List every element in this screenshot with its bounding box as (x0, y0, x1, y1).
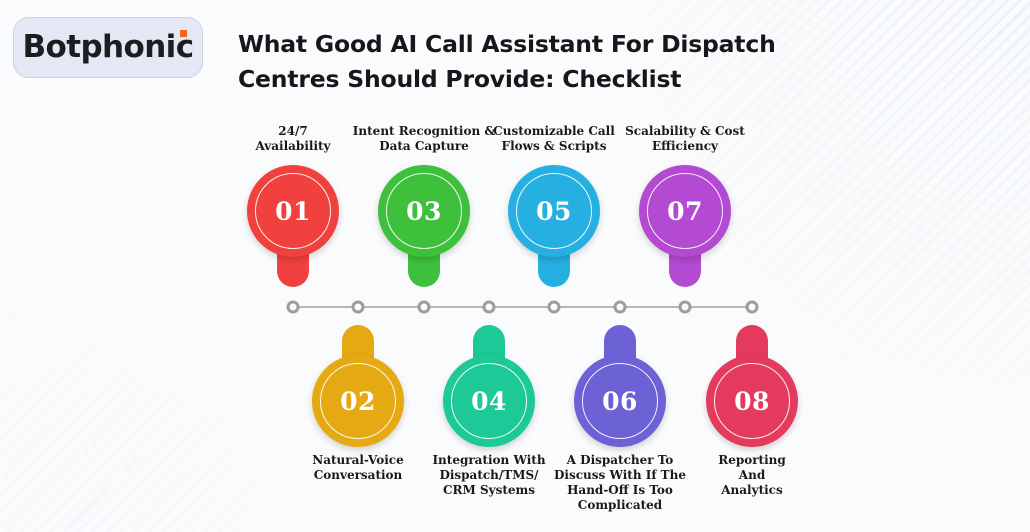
step-label-line: A Dispatcher To (545, 453, 695, 468)
pin-number: 05 (508, 165, 600, 257)
step-label-line: Availability (218, 139, 368, 154)
timeline-dot (548, 301, 561, 314)
step-label-line: Complicated (545, 498, 695, 513)
step-label-07: Scalability & CostEfficiency (610, 124, 760, 154)
step-label-line: Natural-Voice (283, 453, 433, 468)
step-label-02: Natural-VoiceConversation (283, 453, 433, 483)
step-label-01: 24/7Availability (218, 124, 368, 154)
timeline-dot (614, 301, 627, 314)
step-label-08: ReportingAndAnalytics (677, 453, 827, 498)
checklist-step-06[interactable]: 06 (574, 317, 666, 447)
checklist-step-08[interactable]: 08 (706, 317, 798, 447)
checklist-step-05[interactable]: 05 (508, 165, 600, 295)
checklist-step-07[interactable]: 07 (639, 165, 731, 295)
step-label-line: Data Capture (349, 139, 499, 154)
timeline-dot (679, 301, 692, 314)
checklist-diagram: 0124/7Availability02Natural-VoiceConvers… (0, 0, 1030, 532)
pin-number: 07 (639, 165, 731, 257)
timeline-dot (352, 301, 365, 314)
checklist-step-03[interactable]: 03 (378, 165, 470, 295)
timeline-dot (483, 301, 496, 314)
step-label-line: Analytics (677, 483, 827, 498)
checklist-step-04[interactable]: 04 (443, 317, 535, 447)
pin-number: 03 (378, 165, 470, 257)
step-label-03: Intent Recognition &Data Capture (349, 124, 499, 154)
step-label-line: Reporting (677, 453, 827, 468)
checklist-step-02[interactable]: 02 (312, 317, 404, 447)
step-label-line: Integration With (414, 453, 564, 468)
step-label-line: And (677, 468, 827, 483)
timeline-dot (746, 301, 759, 314)
step-label-line: Flows & Scripts (479, 139, 629, 154)
pin-number: 02 (312, 355, 404, 447)
step-label-line: Efficiency (610, 139, 760, 154)
step-label-05: Customizable CallFlows & Scripts (479, 124, 629, 154)
timeline-dot (418, 301, 431, 314)
step-label-line: CRM Systems (414, 483, 564, 498)
step-label-06: A Dispatcher ToDiscuss With If TheHand-O… (545, 453, 695, 513)
step-label-line: Hand-Off Is Too (545, 483, 695, 498)
step-label-line: Scalability & Cost (610, 124, 760, 139)
step-label-04: Integration WithDispatch/TMS/CRM Systems (414, 453, 564, 498)
step-label-line: Customizable Call (479, 124, 629, 139)
pin-number: 01 (247, 165, 339, 257)
step-label-line: Intent Recognition & (349, 124, 499, 139)
timeline-dot (287, 301, 300, 314)
checklist-step-01[interactable]: 01 (247, 165, 339, 295)
pin-number: 04 (443, 355, 535, 447)
step-label-line: 24/7 (218, 124, 368, 139)
step-label-line: Discuss With If The (545, 468, 695, 483)
step-label-line: Conversation (283, 468, 433, 483)
pin-number: 08 (706, 355, 798, 447)
step-label-line: Dispatch/TMS/ (414, 468, 564, 483)
pin-number: 06 (574, 355, 666, 447)
